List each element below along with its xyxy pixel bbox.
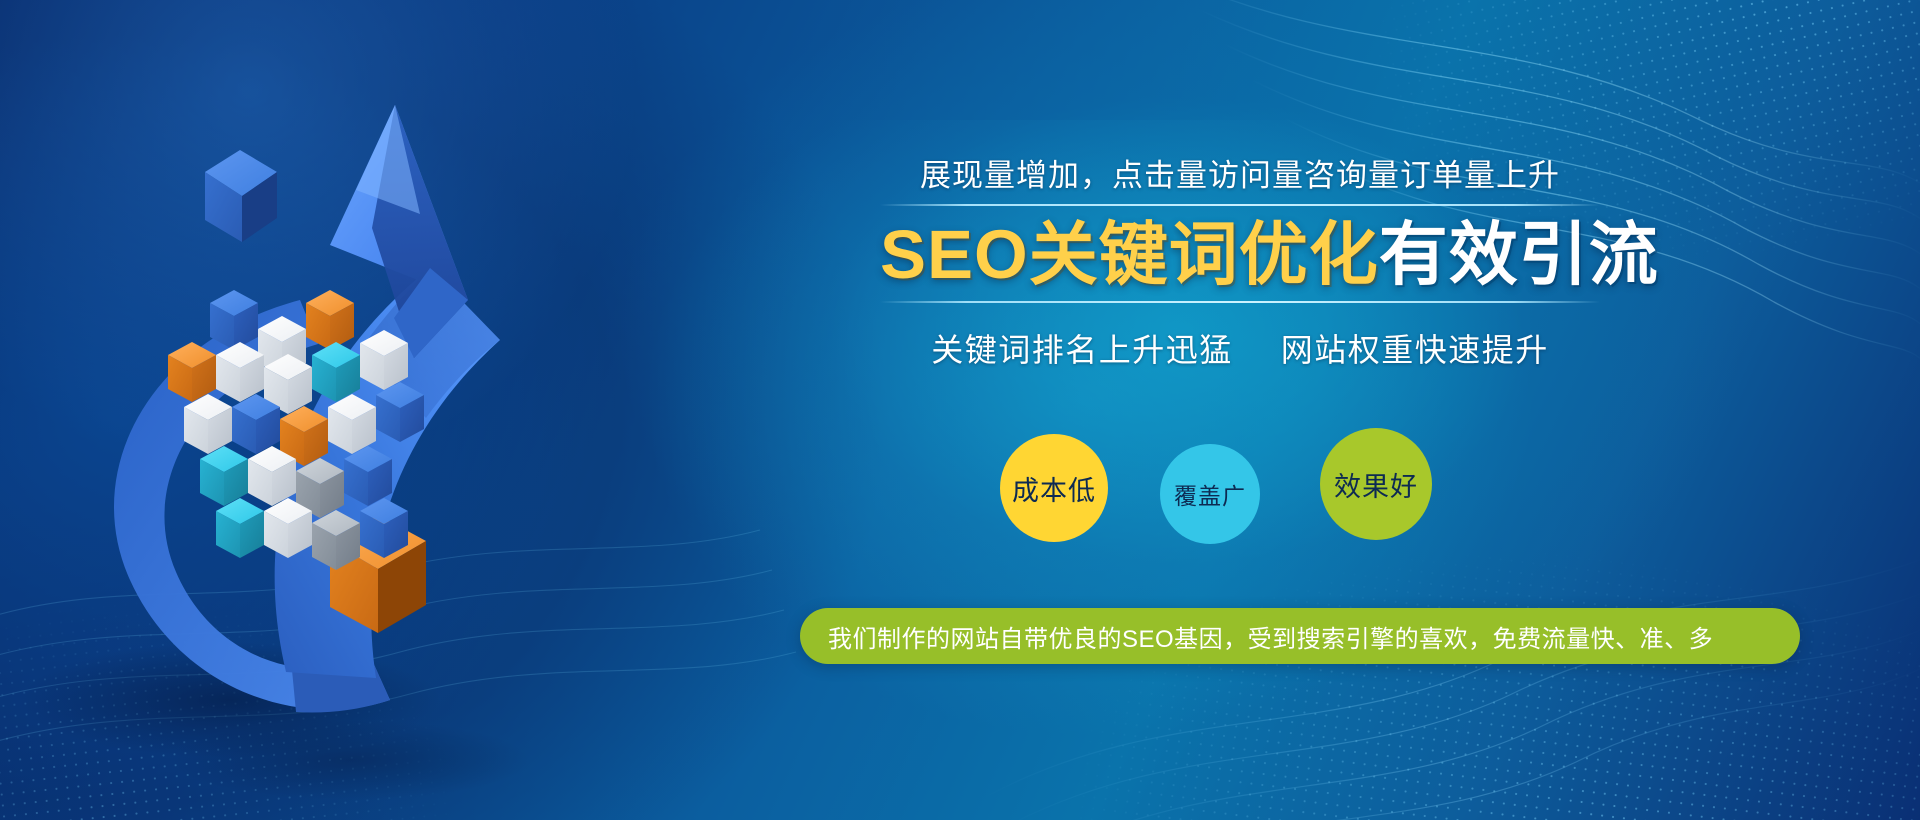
growth-arrow-and-cube-illustration: [0, 0, 900, 820]
page-title-highlight: SEO关键词优化: [880, 216, 1379, 293]
divider-top: [880, 204, 1600, 206]
tagline-text: 我们制作的网站自带优良的SEO基因，受到搜索引擎的喜欢，免费流量快、准、多: [828, 619, 1713, 654]
eyebrow-text: 展现量增加，点击量访问量咨询量订单量上升: [880, 150, 1600, 204]
divider-bottom: [880, 301, 1600, 303]
hero-graphic: [0, 0, 900, 820]
feature-bubble-label: 覆盖广: [1174, 477, 1246, 511]
feature-bubble-good-results[interactable]: 效果好: [1320, 428, 1432, 540]
floating-cube-small-icon: [205, 150, 277, 242]
feature-bubble-low-cost[interactable]: 成本低: [1000, 434, 1108, 542]
feature-bubble-wide-coverage[interactable]: 覆盖广: [1160, 444, 1260, 544]
feature-bubbles: 成本低 覆盖广 效果好: [1000, 418, 1500, 558]
page-title-rest: 有效引流: [1379, 216, 1659, 293]
feature-bubble-label: 成本低: [1012, 469, 1096, 508]
headline-block: 展现量增加，点击量访问量咨询量订单量上升 SEO关键词优化有效引流 关键词排名上…: [880, 150, 1600, 371]
subline-left: 关键词排名上升迅猛: [931, 332, 1233, 368]
feature-bubble-label: 效果好: [1334, 465, 1418, 504]
page-title: SEO关键词优化有效引流: [880, 216, 1600, 293]
tagline-bar: 我们制作的网站自带优良的SEO基因，受到搜索引擎的喜欢，免费流量快、准、多: [800, 608, 1800, 664]
subline-right: 网站权重快速提升: [1281, 332, 1549, 368]
rubiks-cube-3d-icon: [168, 290, 424, 570]
seo-promo-banner: 展现量增加，点击量访问量咨询量订单量上升 SEO关键词优化有效引流 关键词排名上…: [0, 0, 1920, 820]
subline-text: 关键词排名上升迅猛网站权重快速提升: [880, 325, 1600, 371]
